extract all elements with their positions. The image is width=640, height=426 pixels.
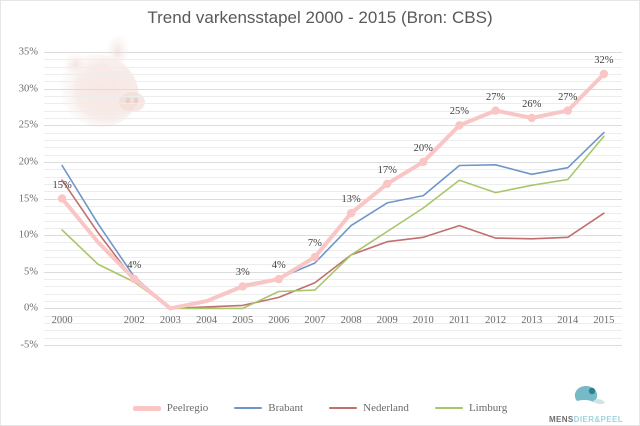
series-line-brabant [62,133,604,309]
x-axis-tick-label: 2014 [557,315,578,326]
data-label: 27% [486,92,505,103]
legend-label: Limburg [469,402,507,414]
x-axis-tick-label: 2015 [593,315,614,326]
legend-item-nederland[interactable]: Nederland [329,402,409,414]
data-label: 27% [558,92,577,103]
data-point-marker [130,275,138,283]
legend-item-limburg[interactable]: Limburg [435,402,507,414]
logo-text-dierpeel: DIER&PEEL [574,415,623,424]
y-axis-tick-label: 0% [0,303,38,314]
data-label: 4% [127,260,141,271]
legend-swatch [435,407,463,409]
plot-area [44,52,622,345]
data-label: 7% [308,238,322,249]
x-axis-tick-label: 2012 [485,315,506,326]
data-point-marker [311,253,319,261]
x-axis-tick-label: 2007 [304,315,325,326]
data-label: 3% [236,267,250,278]
legend-swatch [133,406,161,411]
y-axis-tick-label: 25% [0,120,38,131]
logo-text: MENSDIER&PEEL [540,415,632,424]
y-axis-tick-label: -5% [0,340,38,351]
x-axis-tick-label: 2004 [196,315,217,326]
legend-item-peelregio[interactable]: Peelregio [133,402,209,414]
data-point-marker [58,194,66,202]
data-label: 13% [341,194,360,205]
chart-title: Trend varkensstapel 2000 - 2015 (Bron: C… [0,8,640,28]
data-label: 17% [378,165,397,176]
gridline-major [44,345,622,346]
data-label: 20% [414,143,433,154]
legend-label: Peelregio [167,402,209,414]
x-axis-tick-label: 2002 [124,315,145,326]
data-point-marker [383,180,391,188]
x-axis-tick-label: 2006 [268,315,289,326]
data-point-marker [600,70,608,78]
y-axis-tick-label: 5% [0,266,38,277]
legend-swatch [329,407,357,409]
logo-text-mens: MENS [549,415,574,424]
data-point-marker [564,106,572,114]
chart-container: Trend varkensstapel 2000 - 2015 (Bron: C… [0,0,640,426]
y-axis-tick-label: 10% [0,230,38,241]
legend-item-brabant[interactable]: Brabant [234,402,303,414]
data-point-marker [491,106,499,114]
y-axis-tick-label: 20% [0,156,38,167]
data-point-marker [239,282,247,290]
x-axis-tick-label: 2000 [52,315,73,326]
series-lines [44,52,622,345]
data-point-marker [528,114,536,122]
mensdierpeel-logo: MENSDIER&PEEL [540,384,632,422]
data-label: 4% [272,260,286,271]
data-label: 32% [594,55,613,66]
y-axis-tick-label: 30% [0,83,38,94]
y-axis-tick-label: 35% [0,47,38,58]
data-point-marker [275,275,283,283]
x-axis-tick-label: 2005 [232,315,253,326]
data-point-marker [419,158,427,166]
x-axis-tick-label: 2008 [341,315,362,326]
data-label: 15% [52,180,71,191]
legend-label: Nederland [363,402,409,414]
x-axis-tick-label: 2003 [160,315,181,326]
x-axis-tick-label: 2011 [449,315,470,326]
legend-label: Brabant [268,402,303,414]
data-label: 26% [522,99,541,110]
logo-mark-icon [563,384,609,410]
series-line-limburg [62,136,604,308]
x-axis-tick-label: 2009 [377,315,398,326]
data-point-marker [347,209,355,217]
legend-swatch [234,407,262,409]
data-point-marker [455,121,463,129]
x-axis-tick-label: 2010 [413,315,434,326]
data-label: 25% [450,106,469,117]
y-axis-tick-label: 15% [0,193,38,204]
x-axis-tick-label: 2013 [521,315,542,326]
